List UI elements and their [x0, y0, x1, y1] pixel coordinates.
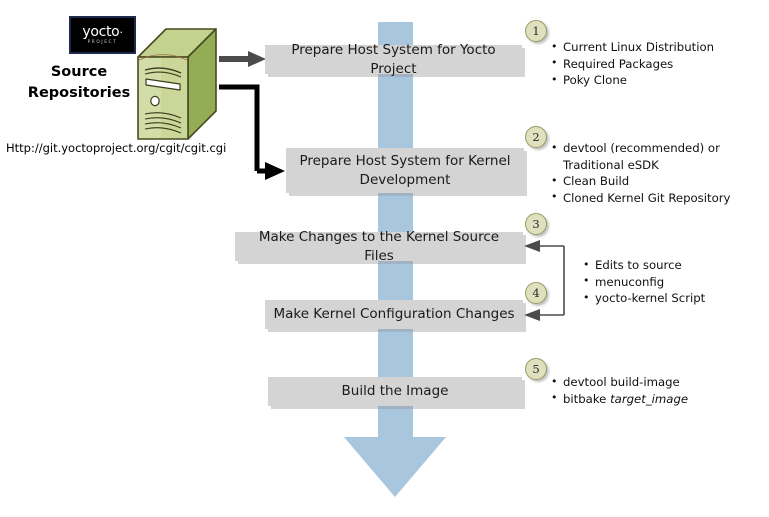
- yocto-logo-word: yocto·: [82, 25, 122, 39]
- process-box-step-2[interactable]: Prepare Host System for Kernel Developme…: [286, 148, 524, 193]
- list-item: bitbake target_image: [551, 391, 763, 408]
- list-item: Poky Clone: [551, 72, 763, 89]
- diagram-canvas: yocto· PROJECT Source Repositories Http:…: [0, 0, 769, 517]
- list-item: yocto-kernel Script: [583, 290, 763, 307]
- process-box-step-3[interactable]: Make Changes to the Kernel Source Files: [235, 232, 523, 261]
- step-badge-3: 3: [525, 213, 547, 235]
- bullet-list-step-2: devtool (recommended) or Traditional eSD…: [551, 140, 763, 206]
- list-item: Required Packages: [551, 56, 763, 73]
- list-item: Cloned Kernel Git Repository: [551, 190, 763, 207]
- step-badge-2: 2: [525, 126, 547, 148]
- yocto-logo-subtitle: PROJECT: [88, 41, 118, 45]
- process-box-step-4[interactable]: Make Kernel Configuration Changes: [265, 300, 523, 329]
- source-label-line1: Source: [18, 62, 140, 83]
- connector-server-to-step1: [219, 51, 266, 67]
- step-badge-4: 4: [525, 282, 547, 304]
- source-url-label: Http://git.yoctoproject.org/cgit/cgit.cg…: [6, 141, 226, 155]
- list-item: devtool (recommended) or Traditional eSD…: [551, 140, 763, 173]
- list-item: Current Linux Distribution: [551, 39, 763, 56]
- step-badge-5: 5: [525, 358, 547, 380]
- list-item: devtool build-image: [551, 374, 763, 391]
- bullet-list-step-1: Current Linux Distribution Required Pack…: [551, 39, 763, 89]
- bullet-list-steps-3-4: Edits to source menuconfig yocto-kernel …: [583, 257, 763, 307]
- connector-server-to-step2: [219, 87, 285, 180]
- list-item: menuconfig: [583, 274, 763, 291]
- bullet-list-step-5: devtool build-image bitbake target_image: [551, 374, 763, 407]
- server-icon: [136, 27, 218, 143]
- step-badge-1: 1: [525, 20, 547, 42]
- source-label-line2: Repositories: [18, 83, 140, 104]
- list-item: Clean Build: [551, 173, 763, 190]
- list-item: Edits to source: [583, 257, 763, 274]
- bitbake-command-prefix: bitbake: [563, 392, 610, 406]
- source-repositories-label: Source Repositories: [18, 62, 140, 104]
- connector-bracket-steps-3-4: [524, 240, 564, 321]
- process-box-step-1[interactable]: Prepare Host System for Yocto Project: [265, 45, 522, 74]
- bitbake-target-argument: target_image: [610, 392, 688, 406]
- yocto-logo: yocto· PROJECT: [69, 16, 136, 54]
- process-box-step-5[interactable]: Build the Image: [268, 377, 522, 406]
